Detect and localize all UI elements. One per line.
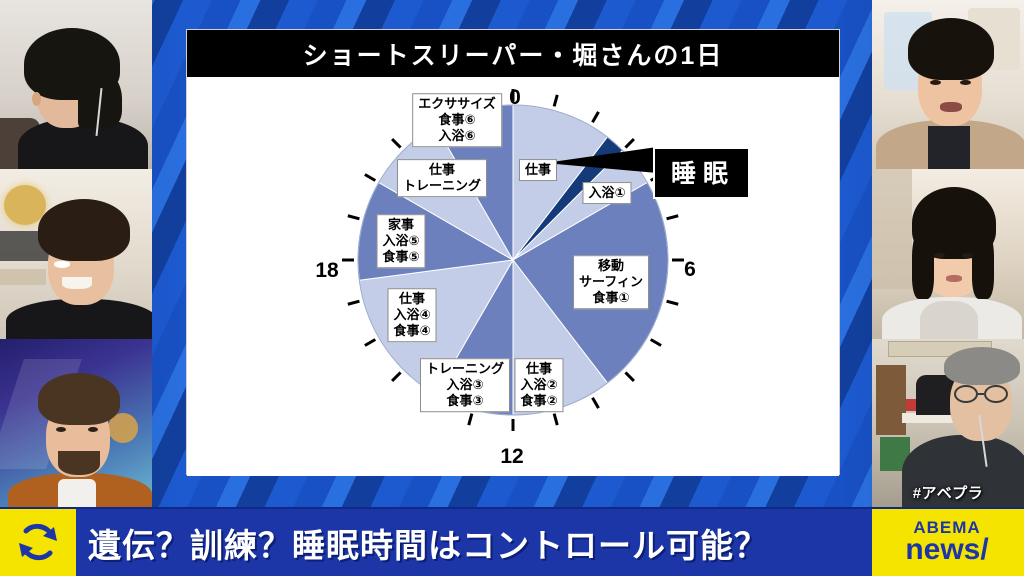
axis-tick: [593, 112, 599, 122]
banner-headline: 遺伝？訓練？睡眠時間はコントロール可能？: [78, 509, 868, 576]
axis-tick: [593, 398, 599, 408]
axis-tick: [667, 301, 679, 304]
pie-chart-plot: 睡眠 061218仕事入浴①移動サーフィン食事①仕事入浴②食事②トレーニング入浴…: [187, 77, 839, 476]
axis-tick: [554, 95, 557, 107]
slice-label-line: 食事⑤: [382, 249, 419, 265]
slice-label-line: サーフィン: [579, 274, 643, 290]
axis-tick: [667, 216, 679, 219]
slice-label-line: 入浴③: [426, 377, 504, 393]
slice-label-line: トレーニング: [403, 178, 481, 194]
label-shigoto-1: 仕事: [519, 159, 557, 181]
slice-label-line: 入浴①: [588, 185, 625, 201]
abema-news-logo: ABEMA news/: [874, 512, 1020, 572]
chart-card: ショートスリーパー・堀さんの1日 睡眠 061218仕事入浴①移動サーフィン食事…: [186, 29, 840, 475]
video-panel-participant-3[interactable]: [0, 339, 152, 509]
sleep-callout-label: 睡眠: [653, 147, 750, 199]
screen: #アベプラ ショートスリーパー・堀さんの1日 睡眠 061218仕事入浴①移動サ…: [0, 0, 1024, 576]
slice-label-line: 入浴②: [520, 377, 557, 393]
label-kaji-5: 家事入浴⑤食事⑤: [376, 214, 425, 268]
label-shigoto-2: 仕事入浴②食事②: [514, 358, 563, 412]
video-panel-column-left: [0, 0, 152, 509]
axis-tick: [392, 139, 400, 147]
slice-label-line: 食事②: [520, 393, 557, 409]
slice-label-line: 仕事: [393, 291, 430, 307]
slice-label-line: 食事④: [393, 323, 430, 339]
tick-12: 12: [500, 445, 523, 469]
slice-label-line: 食事①: [579, 290, 643, 306]
label-shigoto-train: 仕事トレーニング: [397, 159, 487, 197]
abema-logo-bottom: news/: [905, 536, 988, 564]
video-panel-participant-6[interactable]: #アベプラ: [872, 339, 1024, 509]
slice-label-line: 食事⑥: [418, 112, 496, 128]
video-panel-participant-2[interactable]: [0, 169, 152, 339]
label-nyuyoku-1: 入浴①: [582, 182, 631, 204]
video-panel-column-right: #アベプラ: [872, 0, 1024, 509]
label-ido-surfing: 移動サーフィン食事①: [573, 255, 649, 309]
slice-label-line: 仕事: [403, 162, 481, 178]
hashtag-overlay: #アベプラ: [872, 482, 1024, 503]
axis-tick: [365, 340, 375, 346]
axis-tick: [554, 414, 557, 426]
axis-tick: [625, 372, 633, 380]
axis-tick: [469, 414, 472, 426]
tick-18: 18: [315, 259, 338, 283]
label-training-3: トレーニング入浴③食事③: [420, 358, 510, 412]
axis-tick: [348, 216, 360, 219]
lower-third-banner: 遺伝？訓練？睡眠時間はコントロール可能？ ABEMA news/: [0, 509, 1024, 576]
label-shigoto-4: 仕事入浴④食事④: [387, 288, 436, 342]
slice-label-line: 入浴⑤: [382, 233, 419, 249]
axis-tick: [651, 340, 661, 346]
tick-6: 6: [684, 258, 696, 282]
slice-label-line: 仕事: [525, 162, 551, 178]
slice-label-line: 仕事: [520, 361, 557, 377]
slice-label-line: 入浴④: [393, 307, 430, 323]
axis-tick: [365, 175, 375, 181]
slice-label-line: エクササイズ: [418, 96, 496, 112]
video-panel-participant-1[interactable]: [0, 0, 152, 169]
tick-0: 0: [509, 86, 521, 110]
video-panel-participant-4[interactable]: [872, 0, 1024, 169]
axis-tick: [392, 372, 400, 380]
chart-title: ショートスリーパー・堀さんの1日: [187, 30, 839, 77]
pie-chart-svg: [187, 77, 841, 476]
video-panel-participant-5[interactable]: [872, 169, 1024, 339]
slice-label-line: 入浴⑥: [418, 128, 496, 144]
axis-tick: [348, 301, 360, 304]
label-exercise-6: エクササイズ食事⑥入浴⑥: [412, 93, 502, 147]
recycle-arrows-icon: [10, 517, 66, 567]
slice-label-line: 食事③: [426, 393, 504, 409]
axis-tick: [625, 139, 633, 147]
slice-label-line: 家事: [382, 217, 419, 233]
slice-label-line: 移動: [579, 258, 643, 274]
slice-label-line: トレーニング: [426, 361, 504, 377]
